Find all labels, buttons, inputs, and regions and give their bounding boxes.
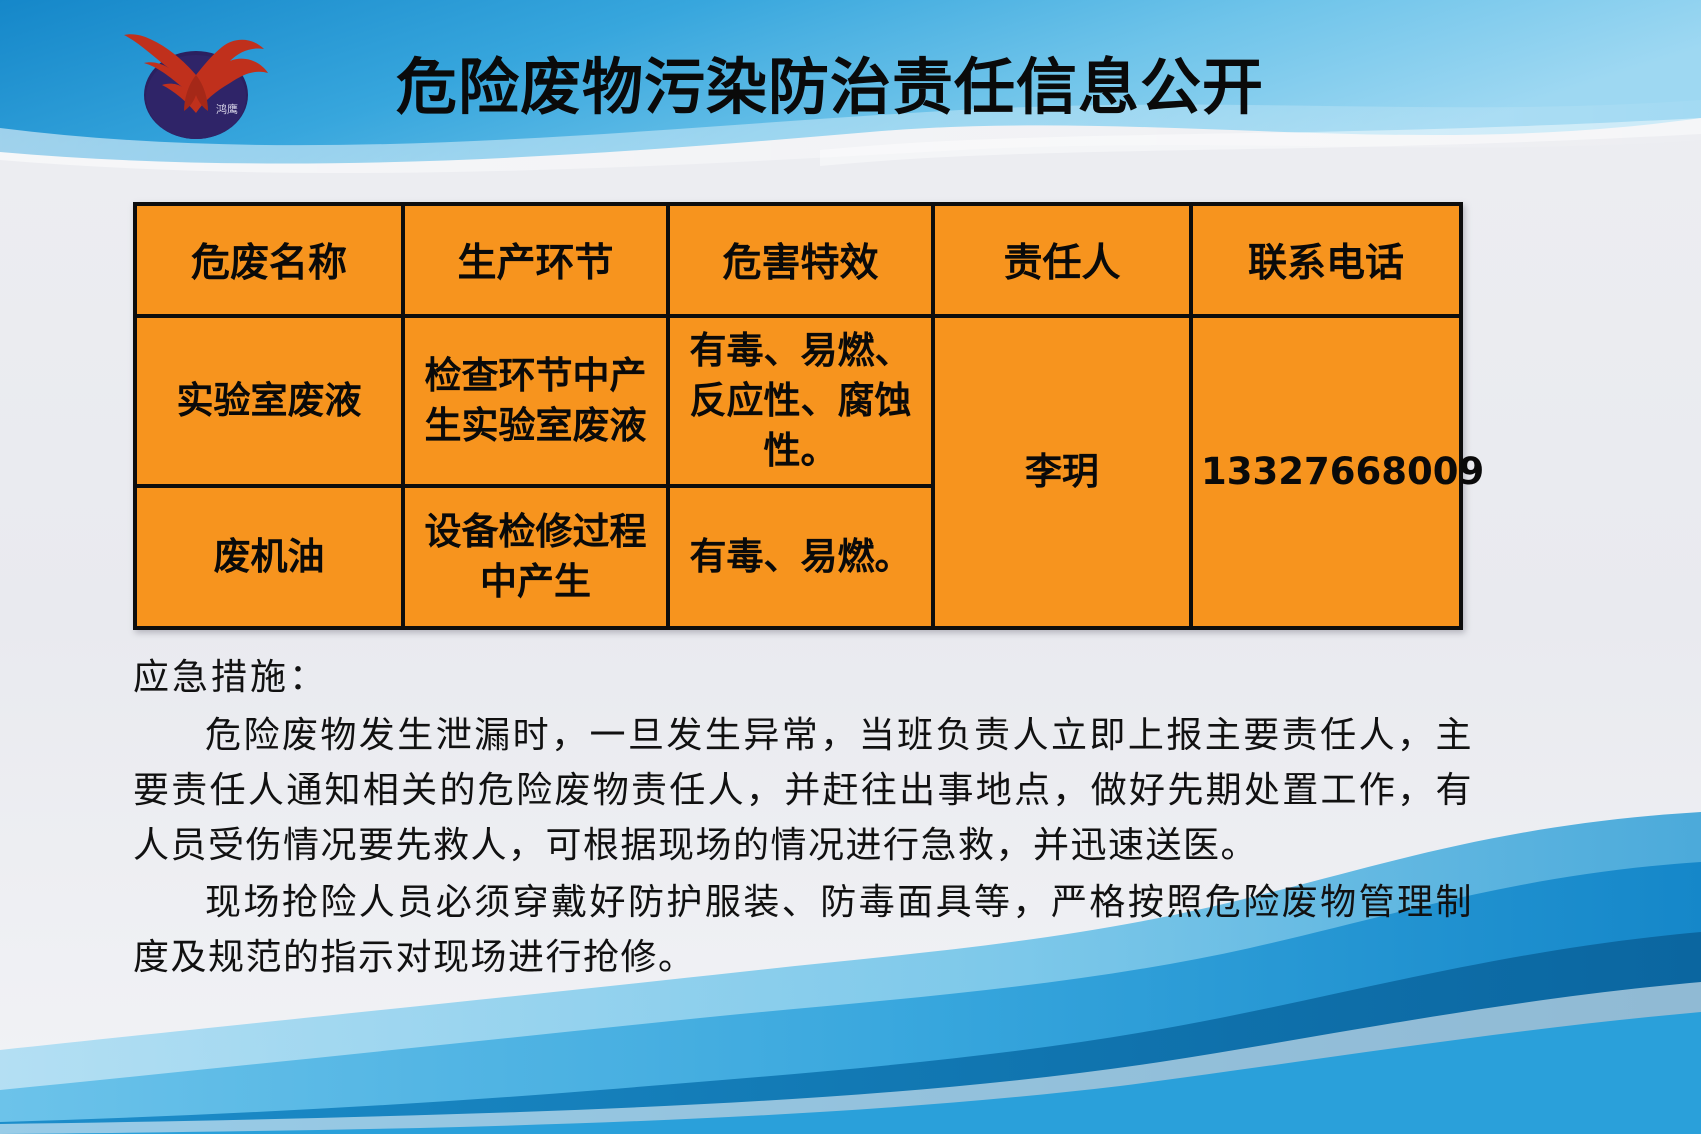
cell-production-stage: 设备检修过程中产生 <box>403 486 668 628</box>
column-header-production-stage: 生产环节 <box>403 204 668 316</box>
cell-waste-name: 实验室废液 <box>135 316 403 486</box>
column-header-hazard-property: 危害特效 <box>668 204 933 316</box>
waste-table: 危废名称 生产环节 危害特效 责任人 联系电话 实验室废液 检查环节中产生实验室… <box>133 202 1463 630</box>
emergency-measures-paragraph-2: 现场抢险人员必须穿戴好防护服装、防毒面具等，严格按照危险废物管理制度及规范的指示… <box>133 875 1473 985</box>
column-header-contact-phone: 联系电话 <box>1191 204 1461 316</box>
cell-hazard-property: 有毒、易燃、反应性、腐蚀性。 <box>668 316 933 486</box>
page-title: 危险废物污染防治责任信息公开 <box>396 52 1264 124</box>
svg-text:鸿鹰: 鸿鹰 <box>216 102 238 116</box>
emergency-measures-heading: 应急措施： <box>133 648 1473 706</box>
emergency-measures-block: 应急措施： 危险废物发生泄漏时，一旦发生异常，当班负责人立即上报主要责任人，主要… <box>133 648 1473 985</box>
cell-hazard-property: 有毒、易燃。 <box>668 486 933 628</box>
table-header-row: 危废名称 生产环节 危害特效 责任人 联系电话 <box>135 204 1461 316</box>
column-header-responsible-person: 责任人 <box>933 204 1191 316</box>
waste-table-container: 危废名称 生产环节 危害特效 责任人 联系电话 实验室废液 检查环节中产生实验室… <box>133 202 1459 630</box>
poster-canvas: 鸿鹰 危险废物污染防治责任信息公开 危废名称 生产环节 危害特效 责任人 联系电… <box>0 0 1701 1134</box>
cell-contact-phone: 13327668009 <box>1191 316 1461 628</box>
cell-responsible-person: 李玥 <box>933 316 1191 628</box>
table-row: 实验室废液 检查环节中产生实验室废液 有毒、易燃、反应性、腐蚀性。 李玥 133… <box>135 316 1461 486</box>
column-header-waste-name: 危废名称 <box>135 204 403 316</box>
emergency-measures-paragraph-1: 危险废物发生泄漏时，一旦发生异常，当班负责人立即上报主要责任人，主要责任人通知相… <box>133 708 1473 873</box>
eagle-logo: 鸿鹰 <box>112 17 280 145</box>
cell-waste-name: 废机油 <box>135 486 403 628</box>
cell-production-stage: 检查环节中产生实验室废液 <box>403 316 668 486</box>
